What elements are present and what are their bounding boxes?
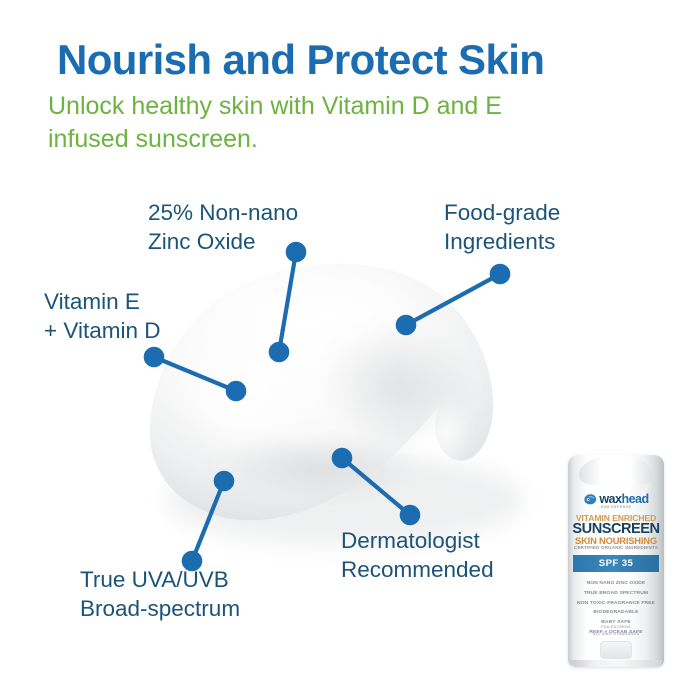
footer-line: FDA EXCEEDS [568, 623, 664, 630]
label-footer: FDA EXCEEDS ALL EWG STANDARDS [568, 623, 664, 637]
feature-item: BIODEGRADABLE [568, 608, 664, 618]
callout-label-vitamins: Vitamin E + Vitamin D [44, 288, 161, 346]
swatch-shade-bottom [214, 434, 422, 502]
tube-body: waxhead SUN DEFENSE VITAMIN ENRICHED SUN… [568, 455, 664, 667]
callout-label-broad-spectrum: True UVA/UVB Broad-spectrum [80, 566, 240, 624]
feature-item: NON NANO ZINC OXIDE [568, 579, 664, 589]
swatch-tail-highlight [425, 398, 469, 466]
callout-label-food-grade: Food-grade Ingredients [444, 199, 560, 257]
label-certified-organic: CERTIFIED ORGANIC INGREDIENTS [568, 545, 664, 550]
product-tube: waxhead SUN DEFENSE VITAMIN ENRICHED SUN… [568, 455, 664, 667]
feature-item: TRUE BROAD SPECTRUM [568, 589, 664, 599]
tube-crimp [570, 660, 662, 667]
brand-tagline: SUN DEFENSE [568, 505, 664, 509]
callout-label-zinc-oxide: 25% Non-nano Zinc Oxide [148, 199, 298, 257]
infographic-canvas: Nourish and Protect Skin Unlock healthy … [0, 0, 679, 679]
footer-line: ALL EWG STANDARDS [568, 630, 664, 637]
feature-item: NON TOXIC-FRAGRANCE FREE [568, 599, 664, 609]
tube-cap-panel [600, 641, 632, 659]
brand-name: waxhead [599, 493, 648, 506]
tube-label: waxhead SUN DEFENSE VITAMIN ENRICHED SUN… [568, 455, 664, 667]
callout-label-dermatologist: Dermatologist Recommended [341, 527, 494, 585]
spf-badge: SPF 35 [573, 555, 659, 572]
